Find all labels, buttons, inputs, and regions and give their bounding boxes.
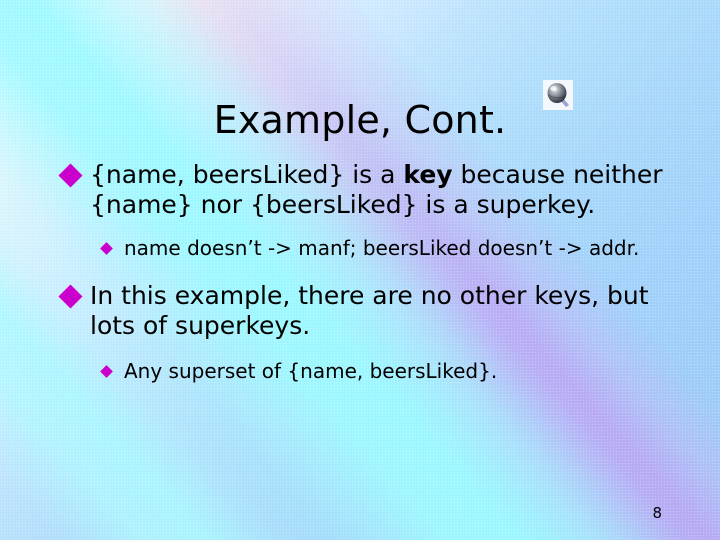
presentation-slide: Example, Cont. (0, 0, 720, 540)
list-item: {name, beersLiked} is a key because neit… (58, 160, 670, 220)
diamond-bullet-icon (58, 163, 82, 187)
page-title: Example, Cont. (214, 97, 507, 143)
bullet-text: {name, beersLiked} is a key because neit… (90, 160, 670, 220)
diamond-bullet-icon (100, 242, 113, 255)
page-number: 8 (652, 504, 662, 522)
list-item: name doesn’t -> manf; beersLiked doesn’t… (98, 236, 670, 261)
list-item: Any superset of {name, beersLiked}. (98, 359, 670, 384)
spacer (58, 222, 670, 236)
slide-title-row: Example, Cont. (0, 72, 720, 169)
sphere-emblem-icon (543, 80, 573, 110)
bullet-text: In this example, there are no other keys… (90, 281, 670, 341)
diamond-bullet-icon (58, 284, 82, 308)
spacer (58, 261, 670, 281)
bullet-text: Any superset of {name, beersLiked}. (124, 359, 497, 383)
spacer (58, 343, 670, 359)
slide-body: {name, beersLiked} is a key because neit… (58, 160, 670, 384)
bullet-text: name doesn’t -> manf; beersLiked doesn’t… (124, 236, 639, 260)
diamond-bullet-icon (100, 365, 113, 378)
list-item: In this example, there are no other keys… (58, 281, 670, 341)
bullet-text-lead: {name, beersLiked} is a (90, 160, 403, 189)
bullet-text-emphasis: key (403, 160, 452, 189)
